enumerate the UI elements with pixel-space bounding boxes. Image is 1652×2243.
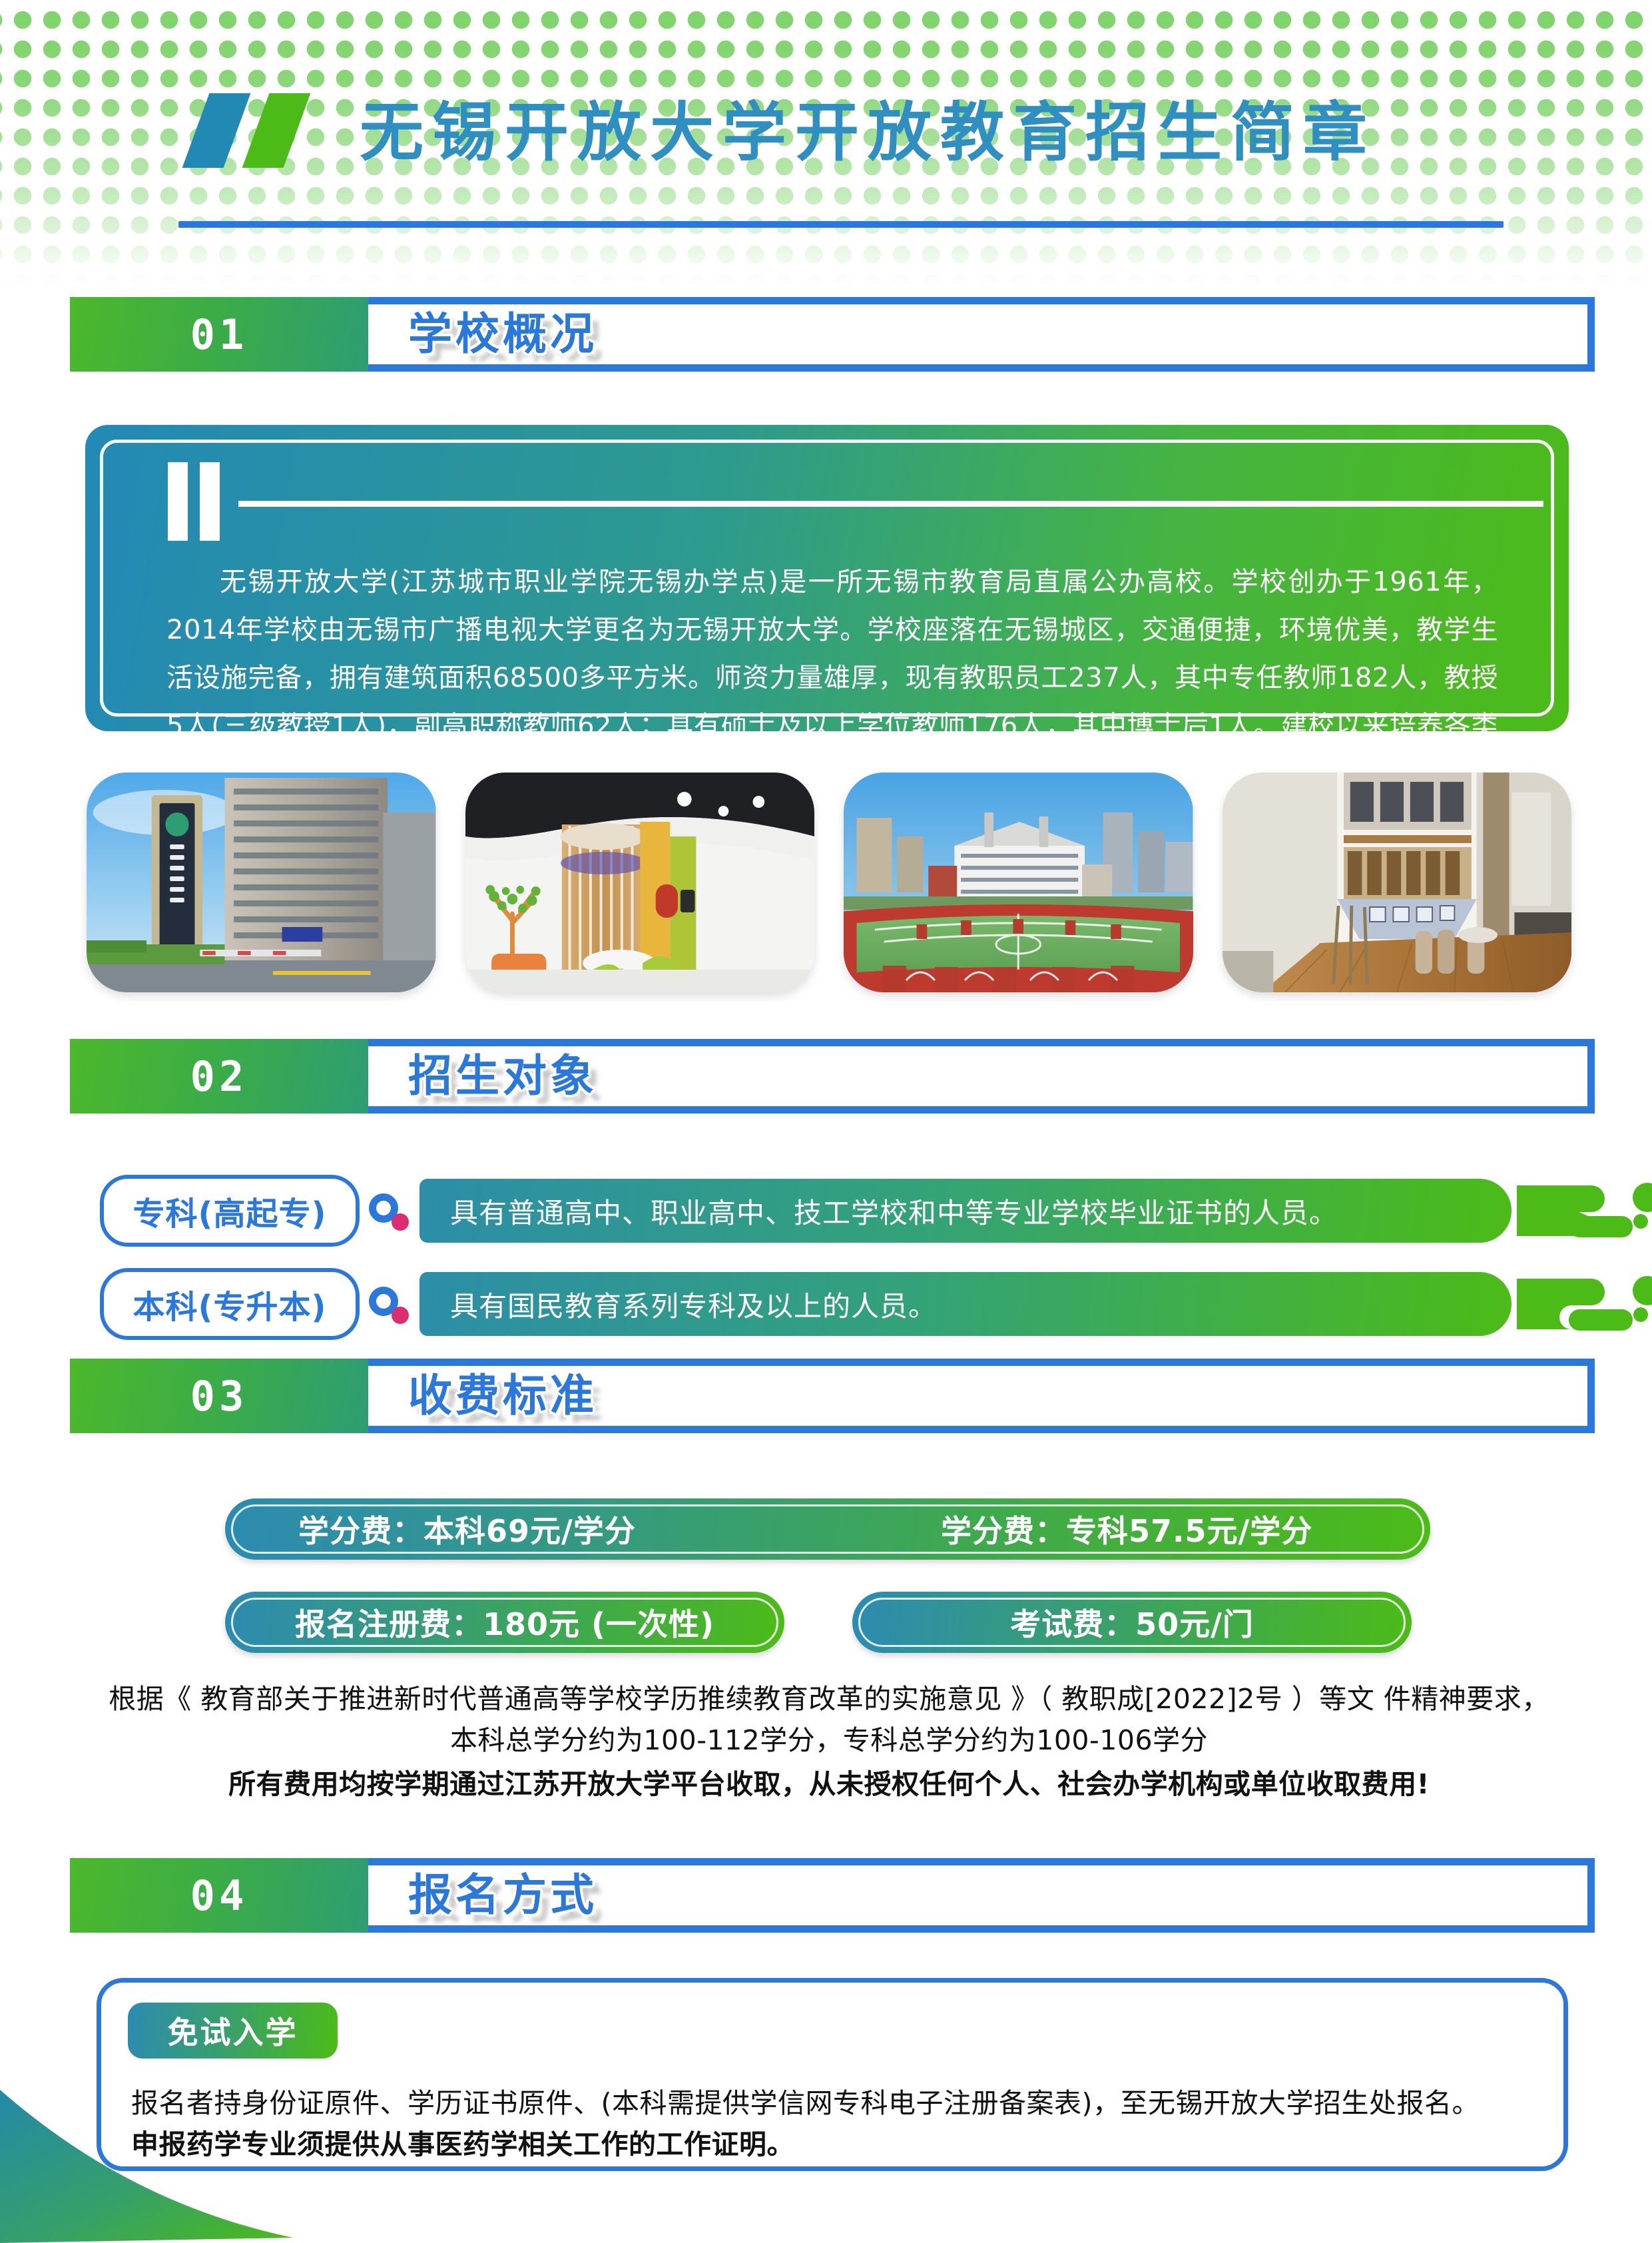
quote-divider-rule (238, 501, 1543, 507)
application-method-box: 免试入学 报名者持身份证原件、学历证书原件、(本科需提供学信网专科电子注册备案表… (97, 1978, 1568, 2171)
fee-exam-label: 考试费：50元/门 (1010, 1600, 1254, 1644)
apply-line-2: 申报药学专业须提供从事医药学相关工作的工作证明。 (131, 2124, 1536, 2165)
admission-target-row-undergrad: 本科(专升本) 具有国民教育系列专科及以上的人员。 (100, 1272, 1585, 1336)
campus-photo-gallery (87, 773, 1571, 992)
target-tag-college: 专科(高起专) (100, 1175, 360, 1247)
section-title-03: 收费标准 (408, 1361, 597, 1433)
photo-library-reading-space (465, 773, 815, 992)
section-title-02: 招生对象 (408, 1042, 597, 1114)
fee-note-warning: 所有费用均按学期通过江苏开放大学平台收取，从未授权任何个人、社会办学机构或单位收… (100, 1763, 1558, 1805)
logo-bar-blue (182, 93, 251, 168)
target-tag-undergrad: 本科(专升本) (100, 1268, 360, 1340)
admission-target-row-college: 专科(高起专) 具有普通高中、职业高中、技工学校和中等专业学校毕业证书的人员。 (100, 1179, 1585, 1243)
section-number-02: 02 (70, 1039, 368, 1114)
section-title-01: 学校概况 (408, 300, 597, 372)
poster-page: 无锡开放大学开放教育招生简章 01 学校概况 无锡开放大学(江苏城市职业学院无锡… (0, 0, 1652, 2243)
section-number-01: 01 (70, 297, 368, 372)
section-header-03: 03 收费标准 (70, 1359, 1595, 1433)
q-dot-shape (392, 1213, 409, 1231)
target-desc-college: 具有普通高中、职业高中、技工学校和中等专业学校毕业证书的人员。 (419, 1179, 1512, 1243)
section-number-04: 04 (70, 1858, 368, 1933)
poster-title: 无锡开放大学开放教育招生简章 (360, 93, 1558, 173)
section-header-02: 02 招生对象 (70, 1039, 1595, 1114)
logo-bar-green (242, 93, 311, 168)
fee-registration-label: 报名注册费：180元 (一次性) (295, 1600, 714, 1644)
school-overview-text: 无锡开放大学(江苏城市职业学院无锡办学点)是一所无锡市教育局直属公办高校。学校创… (166, 558, 1498, 798)
school-overview-card: 无锡开放大学(江苏城市职业学院无锡办学点)是一所无锡市教育局直属公办高校。学校创… (85, 425, 1569, 731)
target-desc-undergrad: 具有国民教育系列专科及以上的人员。 (419, 1272, 1512, 1336)
fee-policy-note: 根据《 教育部关于推进新时代普通高等学校学历推续教育改革的实施意见 》（ 教职成… (100, 1678, 1558, 1805)
header-divider-rule (178, 221, 1504, 228)
fee-credit-undergrad-label: 学分费：本科69元/学分 (298, 1507, 636, 1551)
poster-header: 无锡开放大学开放教育招生简章 (0, 0, 1652, 253)
section-number-03: 03 (70, 1359, 368, 1433)
question-ring-icon-2 (369, 1287, 408, 1325)
section-header-04: 04 报名方式 (70, 1858, 1595, 1933)
fee-note-line-1: 根据《 教育部关于推进新时代普通高等学校学历推续教育改革的实施意见 》（ 教职成… (109, 1683, 1374, 1715)
bracket-dots-decoration (1517, 1183, 1652, 1243)
bracket-dots-decoration-2 (1517, 1276, 1652, 1336)
photo-campus-entrance-sign (87, 773, 436, 992)
apply-line-1: 报名者持身份证原件、学历证书原件、(本科需提供学信网专科电子注册备案表)，至无锡… (131, 2087, 1480, 2119)
q-dot-shape-2 (392, 1307, 409, 1324)
fee-pill-registration: 报名注册费：180元 (一次性) (225, 1592, 784, 1653)
exempt-exam-badge: 免试入学 (128, 2003, 338, 2059)
fee-pill-exam: 考试费：50元/门 (852, 1592, 1412, 1653)
question-ring-icon (369, 1193, 408, 1232)
section-title-04: 报名方式 (408, 1861, 597, 1933)
quote-mark-icon (168, 462, 232, 541)
photo-sports-field-aerial (844, 773, 1193, 992)
fee-credit-college-label: 学分费：专科57.5元/学分 (941, 1507, 1312, 1551)
application-instructions: 报名者持身份证原件、学历证书原件、(本科需提供学信网专科电子注册备案表)，至无锡… (131, 2083, 1536, 2165)
university-logo-icon (192, 93, 318, 166)
fee-pill-credit-rates: 学分费：本科69元/学分 学分费：专科57.5元/学分 (225, 1498, 1430, 1560)
photo-indoor-corridor (1223, 773, 1572, 992)
section-header-01: 01 学校概况 (70, 297, 1595, 372)
